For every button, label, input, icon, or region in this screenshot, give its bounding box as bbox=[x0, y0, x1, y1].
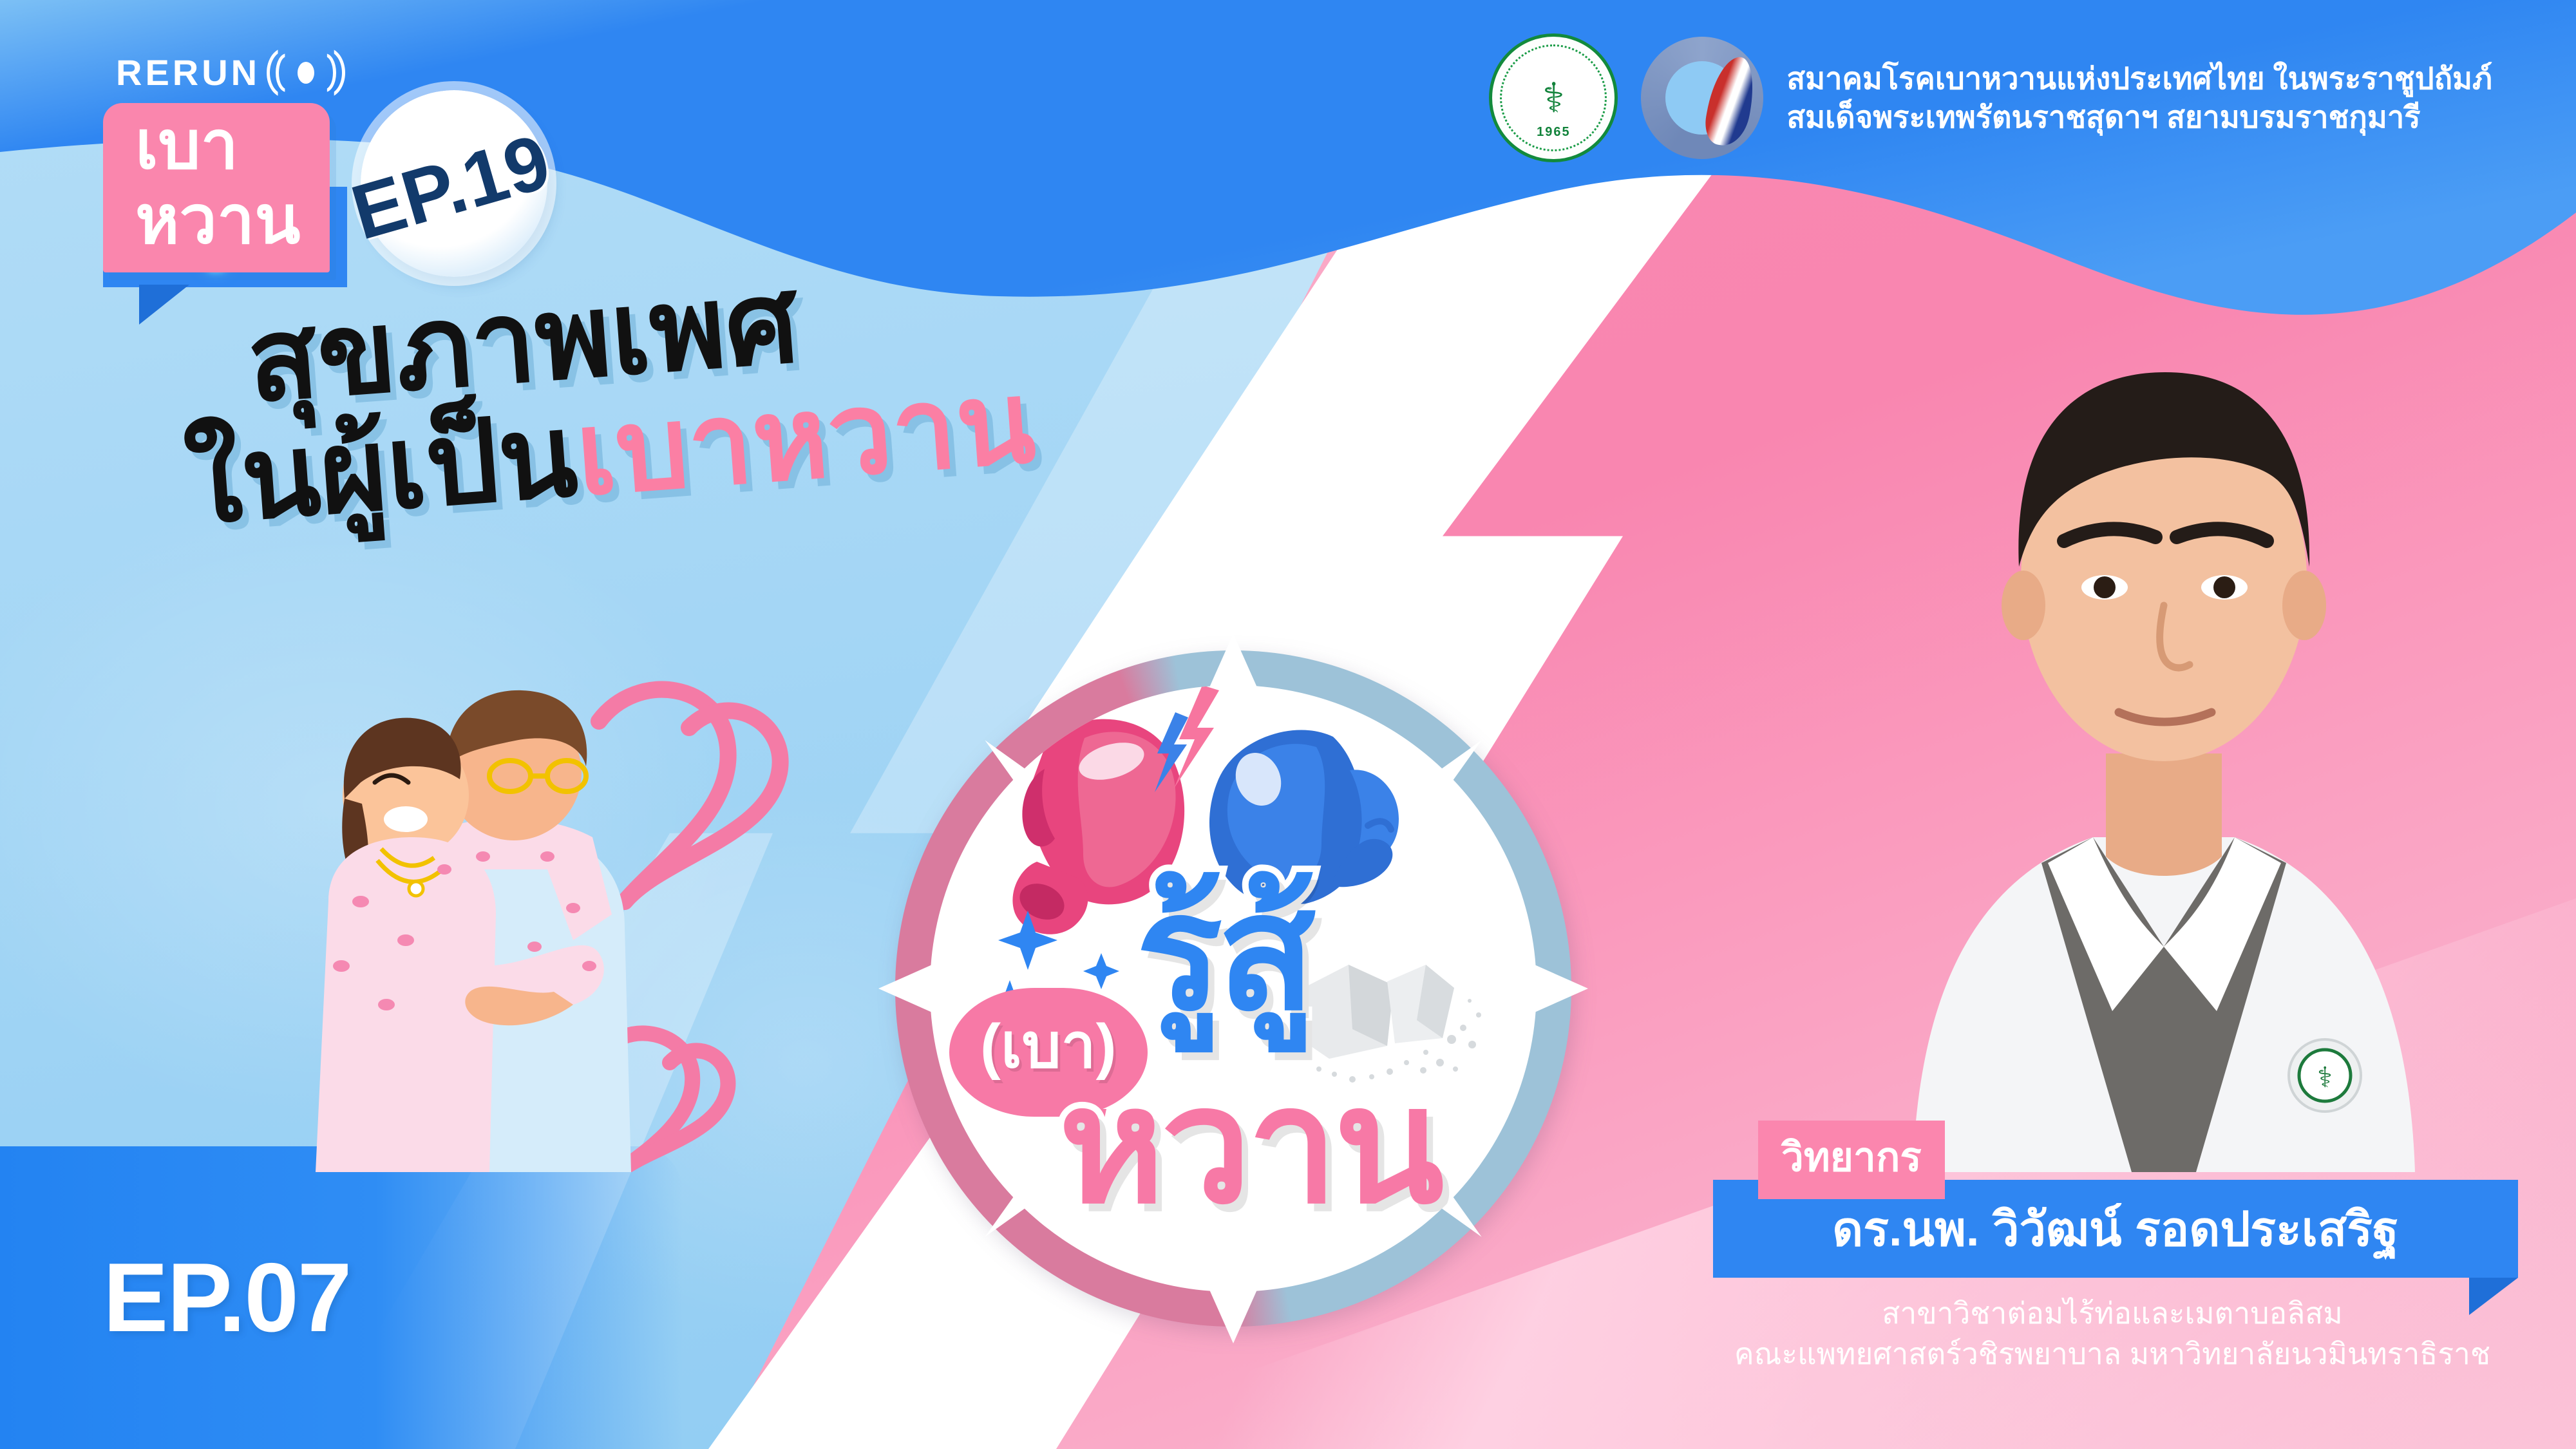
rerun-row: RERUN bbox=[116, 52, 334, 93]
speaker-portrait: ⚕ bbox=[1835, 219, 2492, 1172]
episode-footer-panel: EP.07 bbox=[0, 1146, 683, 1449]
broadcast-icon bbox=[278, 52, 334, 93]
speaker-affiliation-line1: สาขาวิชาต่อมไร้ท่อและเมตาบอลิสม bbox=[1662, 1293, 2563, 1334]
rerun-label: RERUN bbox=[116, 52, 260, 93]
speaker-role-badge: วิทยากร bbox=[1758, 1121, 1945, 1199]
diabetes-association-thailand-emblem-icon: ⚕ 1965 bbox=[1489, 33, 1618, 162]
badge-word-pink: หวาน bbox=[1059, 1065, 1440, 1226]
speaker-affiliation-line2: คณะแพทยศาสตร์วชิรพยาบาล มหาวิทยาลัยนวมิน… bbox=[1662, 1334, 2563, 1374]
clash-lightning-icon bbox=[1152, 685, 1229, 808]
speaker-affiliation: สาขาวิชาต่อมไร้ท่อและเมตาบอลิสม คณะแพทยศ… bbox=[1662, 1293, 2563, 1374]
show-logo-badge: (เบา) รู้สู้ หวาน bbox=[895, 650, 1571, 1327]
organization-name: สมาคมโรคเบาหวานแห่งประเทศไทย ในพระราชูปถ… bbox=[1786, 59, 2492, 137]
episode-badge: EP.19 bbox=[361, 90, 547, 277]
diabetes-thailand-ring-logo-icon bbox=[1641, 37, 1763, 159]
svg-text:⚕: ⚕ bbox=[2317, 1062, 2333, 1094]
organization-header: ⚕ 1965 สมาคมโรคเบาหวานแห่งประเทศไทย ในพร… bbox=[1489, 33, 2492, 162]
show-name-pink-tag: เบาหวาน bbox=[103, 103, 330, 272]
emblem-year: 1965 bbox=[1492, 125, 1615, 140]
speaker-name: ดร.นพ. วิวัฒน์ รอดประเสริฐ bbox=[1832, 1191, 2399, 1267]
poster-canvas: RERUN เบาหวาน สัญจร EP.19 ⚕ 1965 สมาคมโร… bbox=[0, 0, 2576, 1449]
episode-footer-label: EP.07 bbox=[103, 1242, 350, 1354]
badge-inner: (เบา) รู้สู้ หวาน bbox=[930, 685, 1537, 1292]
badge-word-blue: รู้สู้ bbox=[1136, 872, 1311, 1033]
organization-name-line2: สมเด็จพระเทพรัตนราชสุดาฯ สยามบรมราชกุมาร… bbox=[1786, 98, 2492, 137]
episode-badge-label: EP.19 bbox=[343, 117, 560, 257]
embracing-couple-illustration bbox=[213, 644, 792, 1172]
organization-name-line1: สมาคมโรคเบาหวานแห่งประเทศไทย ในพระราชูปถ… bbox=[1786, 59, 2492, 98]
